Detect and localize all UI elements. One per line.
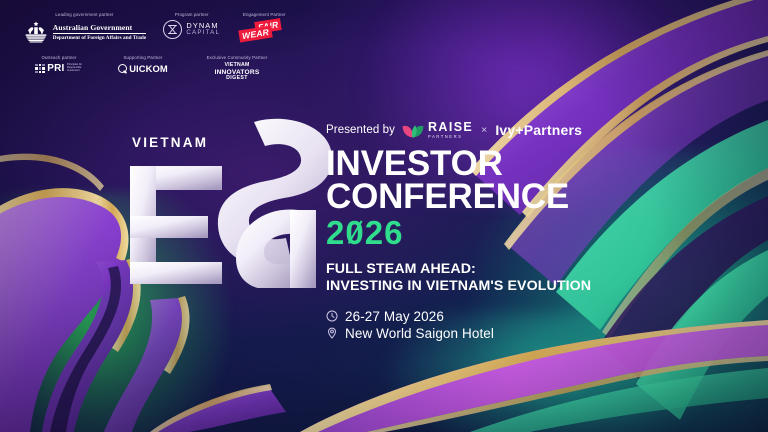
clock-icon [326,310,338,322]
raise-leaf-icon [402,122,424,138]
raise-name: RAISE [428,121,473,134]
australian-government-wordmark: Australian Government Department of Fore… [53,23,146,41]
partner-label: Engagement Partner [243,12,286,17]
presented-by-label: Presented by [326,124,395,136]
poster-main-content: Presented by RAISE PARTNERS × Ivy+Partne… [326,120,726,342]
partner-label: Supporting Partner [123,55,162,60]
partner-sub: Department of Foreign Affairs and Trade [53,35,146,41]
quickom-logo: UICKOM [118,63,168,74]
partner-sub2: DIGEST [215,76,260,82]
australian-government-logo: Australian Government Department of Fore… [23,20,146,44]
esg-logo-lockup: VIETNAM [128,118,338,288]
event-year: 2026 [326,216,726,250]
partner-row-top: Leading government partner [14,12,300,44]
partner-quickom: Supporting Partner UICKOM [104,55,182,81]
australian-crest-icon [23,20,49,44]
fairwear-tag-icon: FAIR WEAR [239,20,289,42]
partner-dynam-capital: Program partner DYNAM CAPITAL [155,12,228,44]
event-date-row: 26-27 May 2026 [326,308,726,325]
partner-label: Outreach partner [41,55,76,60]
ivy-partners-logo[interactable]: Ivy+Partners [495,122,582,138]
dynam-hourglass-icon [163,20,182,39]
partner-label: Exclusive Community Partner [207,55,268,60]
partner-vietnam-innovators-digest: Exclusive Community Partner VIETNAM INNO… [182,55,292,81]
event-poster: Leading government partner [0,0,768,432]
event-tagline: FULL STEAM AHEAD: INVESTING IN VIETNAM'S… [326,261,726,296]
title-line-1: INVESTOR [326,147,726,180]
event-title: INVESTOR CONFERENCE 2026 [326,147,726,249]
letter-e [130,166,222,284]
partner-sub: CAPITAL [186,30,220,37]
partner-name: PRI [47,63,64,74]
raise-wordmark: RAISE PARTNERS [428,121,473,139]
event-venue-row: New World Saigon Hotel [326,325,726,342]
event-venue: New World Saigon Hotel [345,326,494,341]
location-pin-icon [326,327,338,339]
partner-fairwear: Engagement Partner FAIR WEAR [229,12,301,44]
tagline-line-1: FULL STEAM AHEAD: [326,261,726,278]
partner-sub: Principles for Responsible Investment [67,64,83,73]
partner-sub: WEAR [239,25,274,42]
raise-sub: PARTNERS [428,135,473,139]
logo-separator: × [481,124,487,136]
quickom-q-icon [118,64,127,73]
partner-name: UICKOM [129,63,168,74]
divider [53,33,146,34]
tagline-line-2: INVESTING IN VIETNAM'S EVOLUTION [326,278,726,295]
title-line-2: CONFERENCE [326,180,726,213]
dynam-capital-logo: DYNAM CAPITAL [163,20,220,39]
event-year-text: 2026 [326,216,403,250]
event-details: 26-27 May 2026 New World Saigon Hotel [326,308,726,342]
vietnam-innovators-digest-icon: VIETNAM INNOVATORS DIGEST [215,63,260,81]
vietnam-label: VIETNAM [132,135,208,150]
event-date: 26-27 May 2026 [345,309,444,324]
pri-logo: PRI Principles for Responsible Investmen… [35,63,83,74]
partner-australian-government: Leading government partner [14,12,155,44]
partner-row-bottom: Outreach partner PRI Principles for Resp… [14,55,300,81]
partner-name: Australian Government [53,23,146,32]
partner-label: Leading government partner [55,12,113,17]
partner-logos-strip: Leading government partner [0,0,300,81]
dynam-wordmark: DYNAM CAPITAL [186,22,220,36]
partner-label: Program partner [175,12,209,17]
raise-partners-logo[interactable]: RAISE PARTNERS [402,121,473,139]
partner-pri: Outreach partner PRI Principles for Resp… [14,55,104,81]
presented-by-row: Presented by RAISE PARTNERS × Ivy+Partne… [326,120,726,140]
pri-dots-icon [35,64,45,74]
